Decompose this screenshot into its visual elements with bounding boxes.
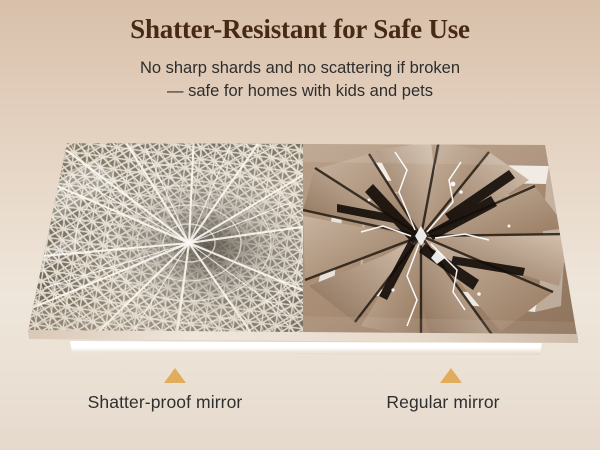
subtitle-line-2: — safe for homes with kids and pets [0, 80, 600, 103]
triangle-up-icon-left [164, 368, 186, 383]
safety-glass-pattern [26, 140, 306, 338]
caption-shatter-proof-mirror: Shatter-proof mirror [35, 392, 295, 413]
mirror-front-edge [70, 341, 542, 355]
page-subtitle: No sharp shards and no scattering if bro… [0, 57, 600, 104]
right-mirror-half [303, 140, 578, 338]
subtitle-line-1: No sharp shards and no scattering if bro… [140, 59, 460, 77]
mirror-panel [26, 140, 578, 338]
promo-graphic: Shatter-Resistant for Safe Use No sharp … [0, 0, 600, 450]
triangle-up-icon-right [440, 368, 462, 383]
caption-regular-mirror: Regular mirror [318, 392, 568, 413]
left-mirror-half [26, 140, 306, 338]
regular-glass-shard-pattern [303, 140, 578, 338]
page-title: Shatter-Resistant for Safe Use [0, 15, 600, 45]
